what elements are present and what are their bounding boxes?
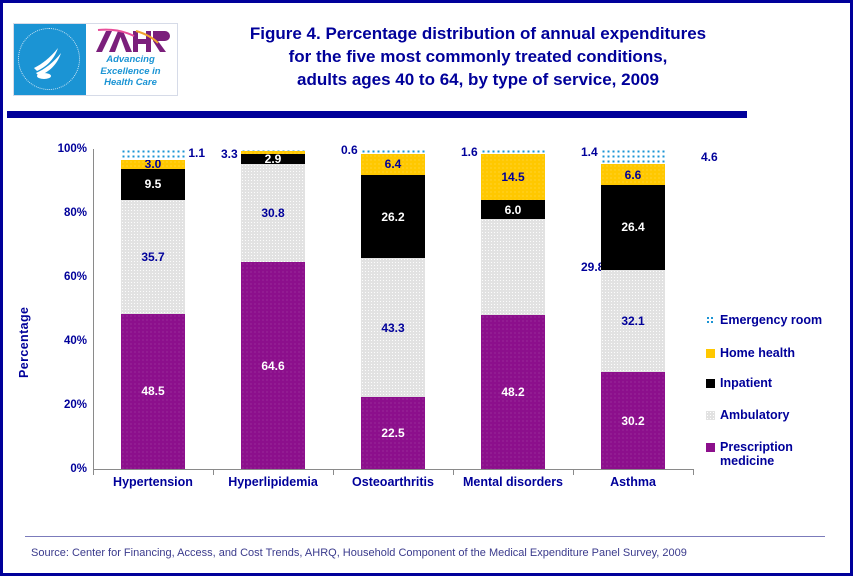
y-axis-tick-label: 60% xyxy=(39,271,87,283)
bar-segment-hh[interactable]: 6.4 xyxy=(361,154,425,174)
chart-area: Percentage 100%80%60%40%20%0% 48.535.79.… xyxy=(3,123,850,513)
figure-title-line1: Figure 4. Percentage distribution of ann… xyxy=(183,22,773,45)
bar-segment-rx[interactable]: 48.2 xyxy=(481,315,545,469)
bar-value-label: 30.8 xyxy=(261,206,284,220)
bar-segment-rx[interactable]: 30.2 xyxy=(601,372,665,469)
ahrq-tagline-line2: Excellence in xyxy=(86,66,175,78)
legend-label: Home health xyxy=(720,346,840,360)
bar-group-hypertension[interactable]: 48.535.79.53.03.3 xyxy=(93,149,213,469)
legend-item-amb[interactable]: Ambulatory xyxy=(706,408,840,422)
bar-segment-hh[interactable]: 6.6 xyxy=(601,164,665,185)
bar-segment-amb[interactable]: 43.3 xyxy=(361,258,425,397)
ahrq-wordmark: Advancing Excellence in Health Care xyxy=(86,24,177,95)
bar-segment-er[interactable]: 3.3 xyxy=(121,149,185,160)
bar-segment-inp[interactable]: 2.9 xyxy=(241,154,305,163)
bar-value-label: 6.0 xyxy=(505,203,522,217)
stacked-bar[interactable]: 64.630.82.91.10.6 xyxy=(241,149,305,469)
y-axis-tick-label: 100% xyxy=(39,143,87,155)
stacked-bar[interactable]: 30.232.126.46.64.6 xyxy=(601,149,665,469)
bar-value-label: 35.7 xyxy=(141,250,164,264)
bar-segment-er[interactable]: 1.4 xyxy=(481,149,545,153)
bar-value-label: 14.5 xyxy=(501,170,524,184)
bar-value-label: 9.5 xyxy=(145,177,162,191)
legend-swatch-amb-icon xyxy=(706,411,715,420)
legend-label: Prescription medicine xyxy=(720,440,840,468)
ahrq-tagline-line3: Health Care xyxy=(86,77,175,89)
bar-segment-er[interactable]: 4.6 xyxy=(601,149,665,164)
legend-item-er[interactable]: Emergency room xyxy=(706,313,840,327)
bar-group-asthma[interactable]: 30.232.126.46.64.6 xyxy=(573,149,693,469)
x-axis-label-asthma: Asthma xyxy=(573,475,693,489)
y-axis-tick-label: 40% xyxy=(39,335,87,347)
legend-swatch-rx-icon xyxy=(706,443,715,452)
bar-segment-amb[interactable]: 29.8 xyxy=(481,219,545,314)
legend-item-rx[interactable]: Prescription medicine xyxy=(706,440,840,468)
bar-segment-amb[interactable]: 32.1 xyxy=(601,270,665,373)
legend-item-inp[interactable]: Inpatient xyxy=(706,376,840,390)
footer-divider xyxy=(25,536,825,537)
bar-group-mental-disorders[interactable]: 48.229.86.014.51.4 xyxy=(453,149,573,469)
bar-value-label: 6.4 xyxy=(385,157,402,171)
bar-value-label: 30.2 xyxy=(621,414,644,428)
x-axis-label-hyperlipidemia: Hyperlipidemia xyxy=(213,475,333,489)
bar-segment-inp[interactable]: 26.4 xyxy=(601,185,665,269)
source-note: Source: Center for Financing, Access, an… xyxy=(31,547,687,559)
bar-value-label: 26.2 xyxy=(381,210,404,224)
bar-segment-rx[interactable]: 48.5 xyxy=(121,314,185,469)
figure-page: Advancing Excellence in Health Care Figu… xyxy=(0,0,853,576)
ahrq-tagline: Advancing Excellence in Health Care xyxy=(86,54,175,89)
bar-group-osteoarthritis[interactable]: 22.543.326.26.41.6 xyxy=(333,149,453,469)
bar-value-label-outside: 4.6 xyxy=(701,150,718,164)
bar-segment-rx[interactable]: 64.6 xyxy=(241,262,305,469)
legend-item-hh[interactable]: Home health xyxy=(706,346,840,360)
legend-label: Inpatient xyxy=(720,376,840,390)
bar-value-label: 22.5 xyxy=(381,426,404,440)
stacked-bar[interactable]: 48.535.79.53.03.3 xyxy=(121,149,185,469)
legend-label: Emergency room xyxy=(720,313,840,327)
y-axis-tick-label: 80% xyxy=(39,207,87,219)
bar-value-label: 6.6 xyxy=(625,168,642,182)
bar-segment-hh[interactable]: 3.0 xyxy=(121,160,185,170)
bar-value-label-outside: 1.1 xyxy=(188,146,205,160)
bar-value-label: 43.3 xyxy=(381,321,404,335)
figure-title: Figure 4. Percentage distribution of ann… xyxy=(183,22,773,91)
hhs-eagle-icon xyxy=(28,38,72,82)
bar-group-hyperlipidemia[interactable]: 64.630.82.91.10.6 xyxy=(213,149,333,469)
legend-swatch-inp-icon xyxy=(706,379,715,388)
x-axis-label-osteoarthritis: Osteoarthritis xyxy=(333,475,453,489)
figure-header: Advancing Excellence in Health Care Figu… xyxy=(3,3,850,103)
x-axis-tick-mark xyxy=(693,469,694,475)
bar-segment-hh[interactable]: 1.1 xyxy=(241,151,305,155)
y-axis-ticks: 100%80%60%40%20%0% xyxy=(39,149,87,465)
bar-segment-amb[interactable]: 35.7 xyxy=(121,200,185,314)
legend-swatch-er-icon xyxy=(706,316,715,325)
header-divider xyxy=(7,111,747,118)
y-axis-tick-label: 0% xyxy=(39,463,87,475)
figure-title-line2: for the five most commonly treated condi… xyxy=(183,45,773,68)
bar-segment-rx[interactable]: 22.5 xyxy=(361,397,425,469)
y-axis-title: Percentage xyxy=(17,307,31,378)
bar-segment-hh[interactable]: 14.5 xyxy=(481,154,545,200)
x-axis-categories: HypertensionHyperlipidemiaOsteoarthritis… xyxy=(93,475,693,499)
x-axis-label-mental-disorders: Mental disorders xyxy=(453,475,573,489)
bar-value-label: 32.1 xyxy=(621,314,644,328)
ahrq-tagline-line1: Advancing xyxy=(86,54,175,66)
bar-segment-inp[interactable]: 26.2 xyxy=(361,175,425,259)
bar-segment-amb[interactable]: 30.8 xyxy=(241,164,305,263)
bar-value-label: 64.6 xyxy=(261,359,284,373)
legend-swatch-hh-icon xyxy=(706,349,715,358)
legend-label: Ambulatory xyxy=(720,408,840,422)
bar-segment-inp[interactable]: 6.0 xyxy=(481,200,545,219)
x-axis-label-hypertension: Hypertension xyxy=(93,475,213,489)
ahrq-logo: Advancing Excellence in Health Care xyxy=(13,23,178,96)
bar-segment-er[interactable]: 0.6 xyxy=(241,149,305,151)
hhs-seal-icon xyxy=(14,24,86,95)
bar-segment-inp[interactable]: 9.5 xyxy=(121,169,185,199)
plot-area: 48.535.79.53.03.364.630.82.91.10.622.543… xyxy=(93,149,693,469)
stacked-bar[interactable]: 48.229.86.014.51.4 xyxy=(481,149,545,469)
bar-value-label: 48.5 xyxy=(141,384,164,398)
y-axis-tick-label: 20% xyxy=(39,399,87,411)
ahrq-letters-icon xyxy=(92,28,172,54)
bar-value-label: 48.2 xyxy=(501,385,524,399)
bar-segment-er[interactable]: 1.6 xyxy=(361,149,425,154)
stacked-bar[interactable]: 22.543.326.26.41.6 xyxy=(361,149,425,469)
x-axis-line xyxy=(93,469,693,470)
figure-title-line3: adults ages 40 to 64, by type of service… xyxy=(183,68,773,91)
bar-value-label: 26.4 xyxy=(621,220,644,234)
